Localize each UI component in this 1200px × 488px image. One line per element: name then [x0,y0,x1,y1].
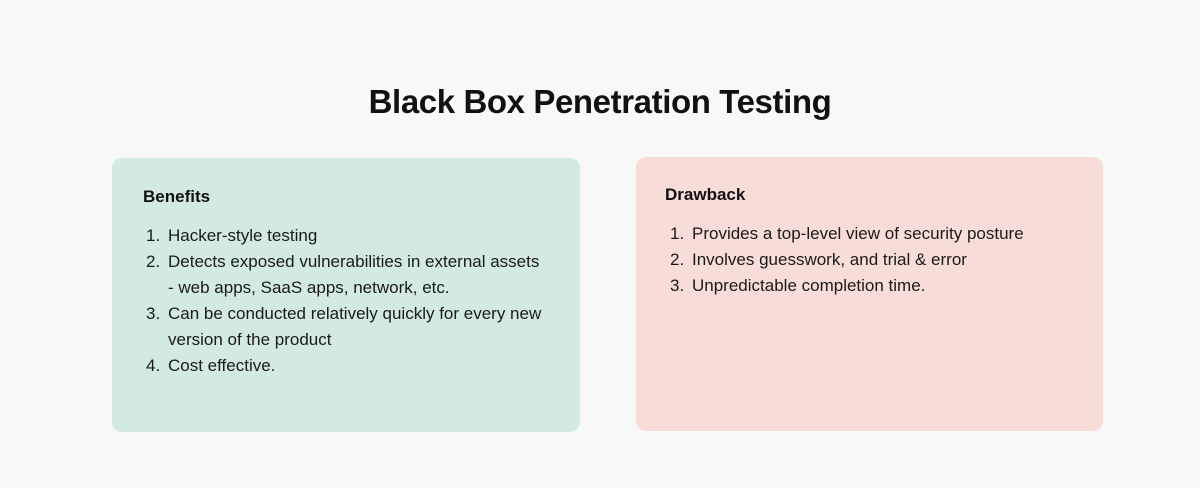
list-item-marker: 4. [146,353,166,379]
list-item-text: Detects exposed vulnerabilities in exter… [168,249,546,301]
card-drawback-heading: Drawback [665,184,745,206]
list-item-marker: 3. [146,301,166,327]
card-drawback: Drawback 1.Provides a top-level view of … [636,157,1103,431]
list-item: 3.Unpredictable completion time. [670,273,1070,299]
list-item: 1.Provides a top-level view of security … [670,221,1070,247]
list-item: 2.Involves guesswork, and trial & error [670,247,1070,273]
list-item-marker: 3. [670,273,690,299]
list-item: 1.Hacker-style testing [146,223,546,249]
list-item-text: Cost effective. [168,353,546,379]
list-item: 3.Can be conducted relatively quickly fo… [146,301,546,353]
card-benefits-heading: Benefits [143,186,210,208]
page-title: Black Box Penetration Testing [0,80,1200,124]
card-benefits: Benefits 1.Hacker-style testing2.Detects… [112,158,580,432]
list-item-text: Unpredictable completion time. [692,273,1070,299]
list-item-marker: 1. [146,223,166,249]
list-item-marker: 2. [146,249,166,275]
card-drawback-list: 1.Provides a top-level view of security … [670,221,1070,299]
list-item-marker: 2. [670,247,690,273]
card-benefits-list: 1.Hacker-style testing2.Detects exposed … [146,223,546,379]
list-item: 2.Detects exposed vulnerabilities in ext… [146,249,546,301]
list-item-text: Involves guesswork, and trial & error [692,247,1070,273]
list-item-marker: 1. [670,221,690,247]
page-root: Black Box Penetration Testing Benefits 1… [0,0,1200,488]
list-item-text: Hacker-style testing [168,223,546,249]
list-item-text: Provides a top-level view of security po… [692,221,1070,247]
list-item-text: Can be conducted relatively quickly for … [168,301,546,353]
list-item: 4.Cost effective. [146,353,546,379]
